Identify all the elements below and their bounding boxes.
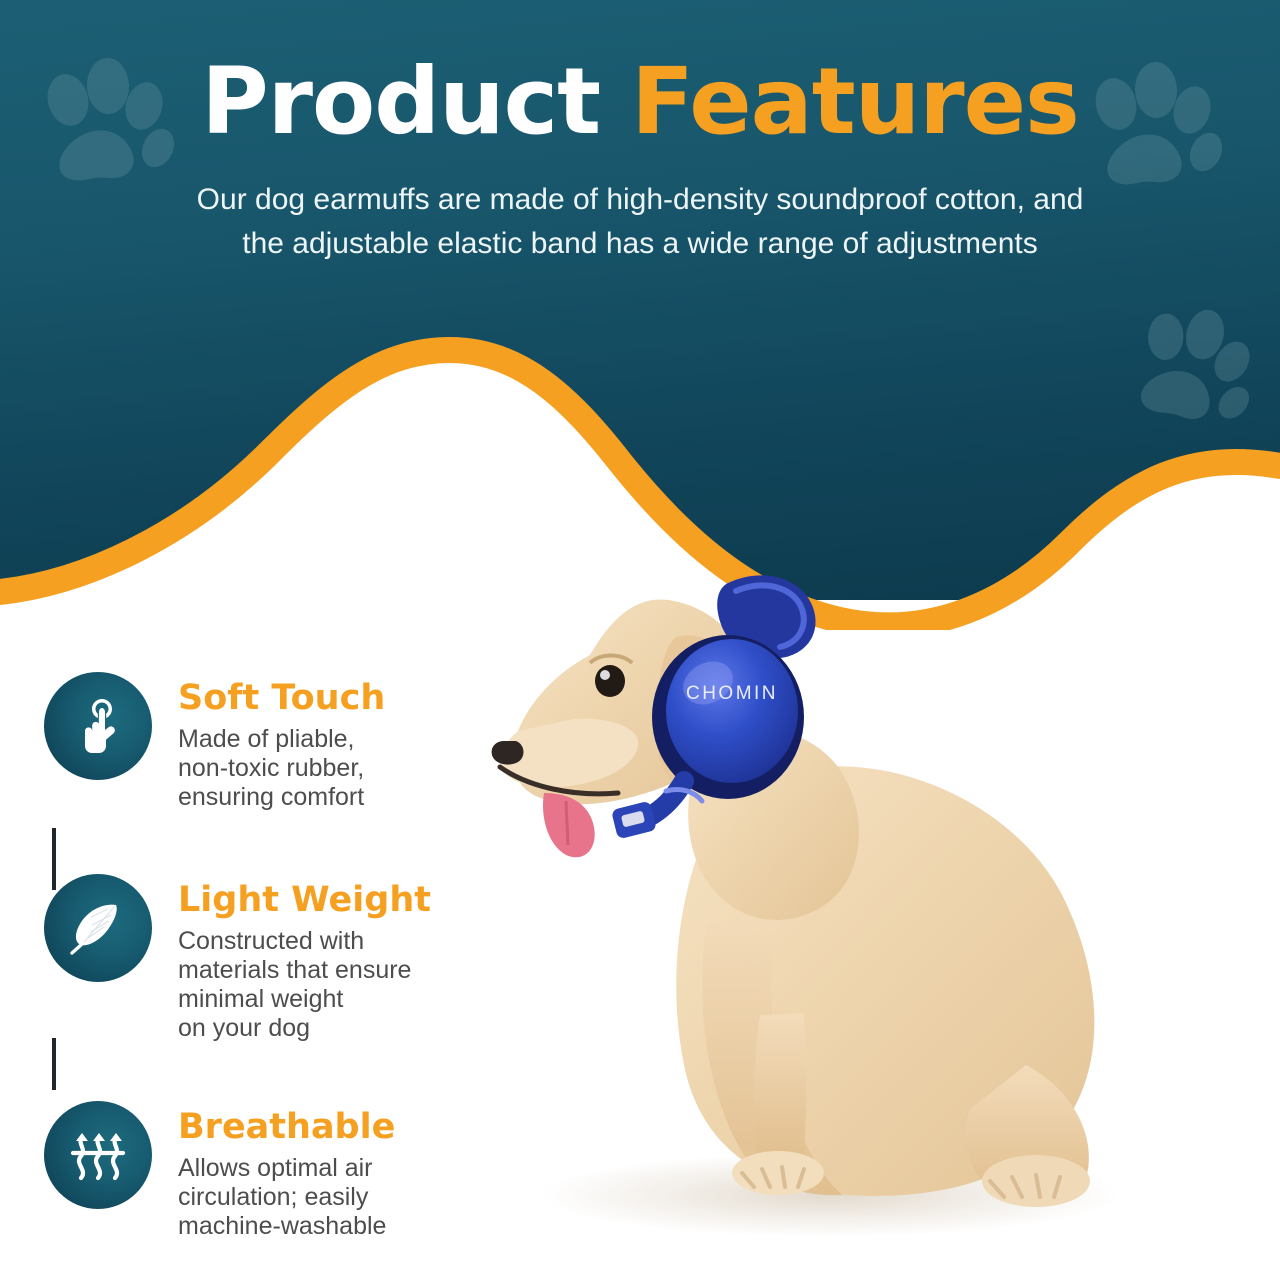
feature-title: Light Weight <box>178 880 431 920</box>
feature-description: Made of pliable, non-toxic rubber, ensur… <box>178 725 385 812</box>
feather-icon <box>44 874 152 982</box>
feature-description: Constructed with materials that ensure m… <box>178 927 431 1043</box>
title-word-product: Product <box>201 48 631 155</box>
hand-touch-icon <box>44 672 152 780</box>
feature-text-block: Light Weight Constructed with materials … <box>152 874 431 1043</box>
feature-list: Soft Touch Made of pliable, non-toxic ru… <box>44 672 514 1241</box>
subtitle-line-2: the adjustable elastic band has a wide r… <box>70 222 1210 266</box>
feature-text-block: Soft Touch Made of pliable, non-toxic ru… <box>152 672 385 812</box>
feature-title: Soft Touch <box>178 678 385 718</box>
feature-text-block: Breathable Allows optimal air circulatio… <box>152 1101 395 1241</box>
product-photo-dog-with-earmuffs: CHOMIN <box>470 505 1170 1245</box>
feature-description: Allows optimal air circulation; easily m… <box>178 1154 395 1241</box>
product-brand-text: CHOMIN <box>686 683 778 704</box>
title-word-features: Features <box>631 48 1079 155</box>
airflow-icon <box>44 1101 152 1209</box>
page-title: Product Features <box>0 48 1280 155</box>
product-features-infographic: Product Features Our dog earmuffs are ma… <box>0 0 1280 1280</box>
feature-title: Breathable <box>178 1107 395 1147</box>
feature-item-breathable[interactable]: Breathable Allows optimal air circulatio… <box>44 1101 514 1241</box>
feature-item-soft-touch[interactable]: Soft Touch Made of pliable, non-toxic ru… <box>44 672 514 812</box>
subtitle-line-1: Our dog earmuffs are made of high-densit… <box>70 178 1210 222</box>
header-subtitle: Our dog earmuffs are made of high-densit… <box>70 178 1210 266</box>
feature-item-light-weight[interactable]: Light Weight Constructed with materials … <box>44 874 514 1043</box>
